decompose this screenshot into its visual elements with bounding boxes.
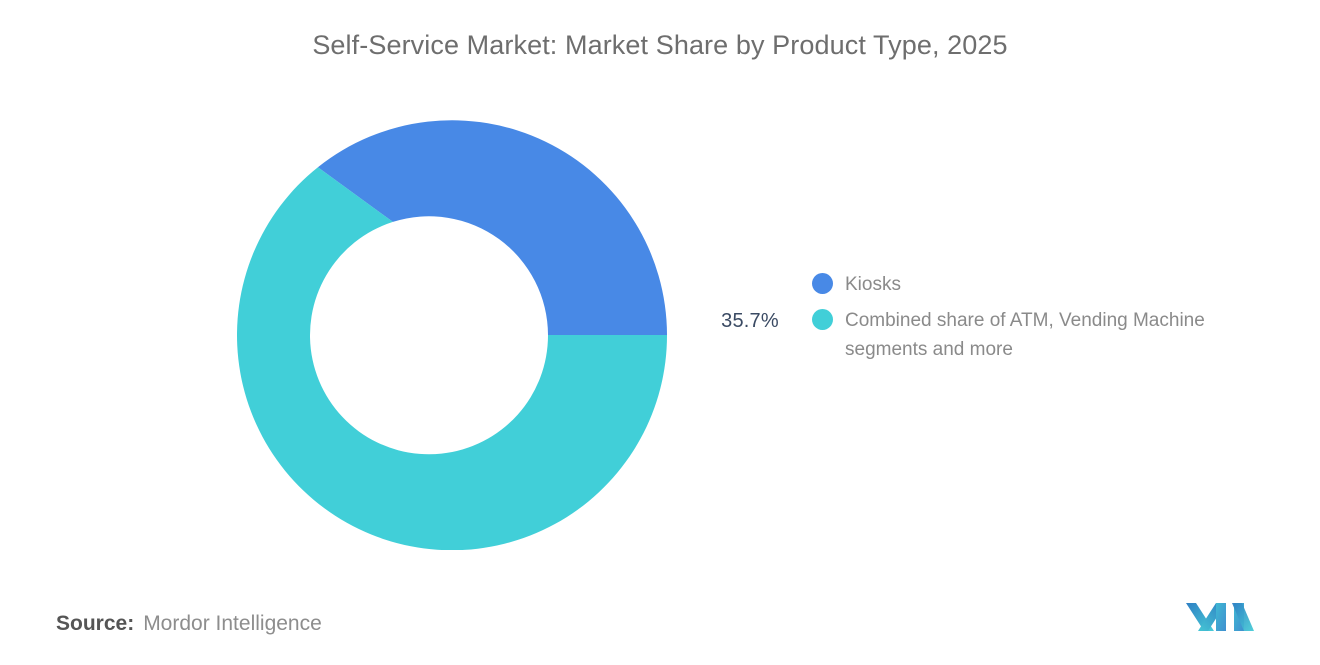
chart-legend: Kiosks Combined share of ATM, Vending Ma… <box>812 270 1292 371</box>
donut-svg <box>237 120 667 550</box>
legend-label-combined: Combined share of ATM, Vending Machine s… <box>845 306 1285 364</box>
mordor-intelligence-logo-icon <box>1186 597 1254 637</box>
source-value: Mordor Intelligence <box>143 612 322 636</box>
legend-item-kiosks[interactable]: Kiosks <box>812 270 1292 299</box>
legend-swatch-icon-kiosks <box>812 273 833 294</box>
legend-item-combined[interactable]: Combined share of ATM, Vending Machine s… <box>812 306 1292 364</box>
chart-title: Self-Service Market: Market Share by Pro… <box>0 30 1320 61</box>
donut-chart: 35.7% <box>237 120 667 550</box>
source-attribution: Source: Mordor Intelligence <box>56 612 322 636</box>
legend-label-kiosks: Kiosks <box>845 270 901 299</box>
source-label: Source: <box>56 612 134 636</box>
chart-canvas: Self-Service Market: Market Share by Pro… <box>0 0 1320 665</box>
legend-swatch-icon-combined <box>812 309 833 330</box>
slice-value-label-kiosks: 35.7% <box>700 310 800 333</box>
